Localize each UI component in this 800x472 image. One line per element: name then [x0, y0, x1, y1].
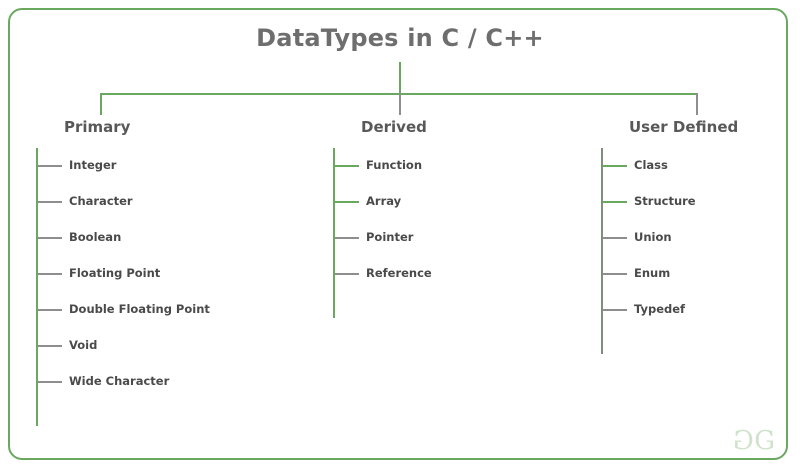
leaf-label: Double Floating Point	[69, 302, 210, 316]
leaf-label: Floating Point	[69, 266, 160, 280]
leaf-label: Reference	[366, 266, 432, 280]
leaf-connector-line	[603, 309, 627, 311]
leaf-connector-line	[603, 273, 627, 275]
leaf-label: Function	[366, 158, 422, 172]
leaf-label: Array	[366, 194, 401, 208]
title-stem-line	[399, 62, 401, 94]
leaf-connector-line	[38, 237, 62, 239]
drop-line-derived	[399, 93, 401, 115]
leaf-label: Void	[69, 338, 97, 352]
leaf-label: Enum	[634, 266, 670, 280]
logo-glyph-right: G	[754, 426, 774, 456]
leaf-label: Class	[634, 158, 668, 172]
leaf-connector-line	[38, 201, 62, 203]
logo-glyph-left: G	[734, 428, 754, 454]
leaf-label: Structure	[634, 194, 696, 208]
leaf-label: Character	[69, 194, 133, 208]
branch-spine-derived	[333, 148, 335, 318]
leaf-connector-line	[38, 309, 62, 311]
leaf-connector-line	[335, 237, 359, 239]
leaf-connector-line	[603, 201, 627, 203]
branch-header-primary: Primary	[64, 118, 130, 136]
branch-spine-user-defined	[601, 148, 603, 354]
leaf-label: Union	[634, 230, 672, 244]
drop-line-user-defined	[696, 93, 698, 115]
leaf-label: Integer	[69, 158, 116, 172]
page-title: DataTypes in C / C++	[0, 24, 800, 52]
branch-header-derived: Derived	[361, 118, 427, 136]
leaf-connector-line	[335, 165, 359, 167]
leaf-connector-line	[38, 381, 62, 383]
branch-header-user-defined: User Defined	[629, 118, 738, 136]
leaf-label: Pointer	[366, 230, 413, 244]
leaf-connector-line	[335, 273, 359, 275]
leaf-connector-line	[603, 237, 627, 239]
leaf-label: Typedef	[634, 302, 685, 316]
diagram-root: DataTypes in C / C++ Primary IntegerChar…	[0, 0, 800, 472]
drop-line-primary	[100, 93, 102, 115]
leaf-connector-line	[38, 273, 62, 275]
leaf-connector-line	[603, 165, 627, 167]
leaf-connector-line	[335, 201, 359, 203]
leaf-label: Wide Character	[69, 374, 169, 388]
leaf-label: Boolean	[69, 230, 121, 244]
geeksforgeeks-logo: GG	[734, 428, 774, 454]
leaf-connector-line	[38, 165, 62, 167]
leaf-connector-line	[38, 345, 62, 347]
branch-spine-primary	[36, 148, 38, 426]
